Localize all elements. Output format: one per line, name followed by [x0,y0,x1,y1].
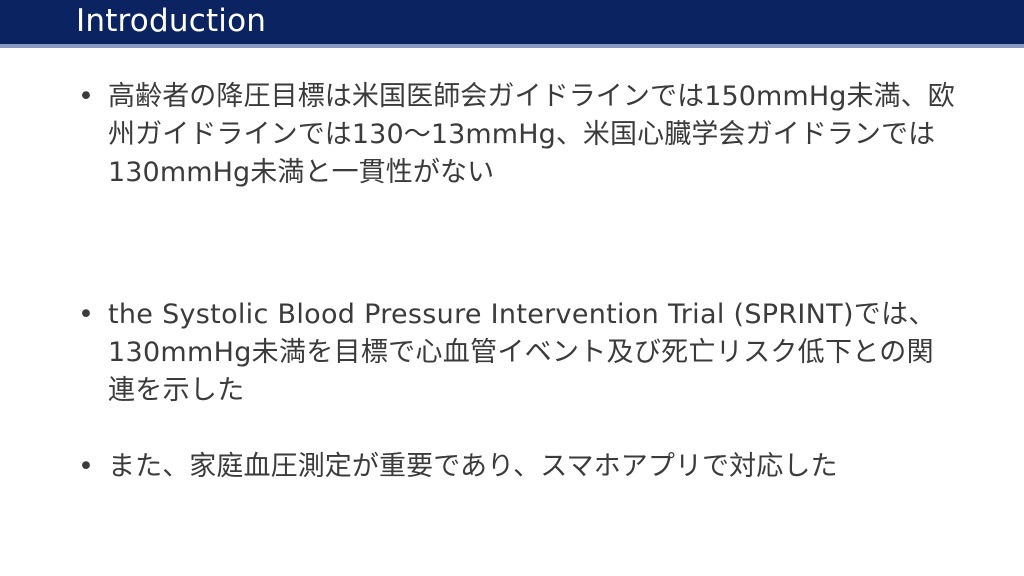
bullet-item-3: • また、家庭血圧測定が重要であり、スマホアプリで対応した [78,448,958,486]
bullet-item-1: • 高齢者の降圧目標は米国医師会ガイドラインでは150mmHg未満、欧州ガイドラ… [78,78,958,192]
bullet-item-2: • the Systolic Blood Pressure Interventi… [78,296,958,410]
slide: Introduction • 高齢者の降圧目標は米国医師会ガイドラインでは150… [0,0,1024,576]
slide-body: • 高齢者の降圧目標は米国医師会ガイドラインでは150mmHg未満、欧州ガイドラ… [0,48,1024,576]
bullet-point-icon: • [78,78,108,116]
bullet-text-2: the Systolic Blood Pressure Intervention… [108,296,958,410]
bullet-row: • また、家庭血圧測定が重要であり、スマホアプリで対応した [78,448,958,486]
bullet-text-3: また、家庭血圧測定が重要であり、スマホアプリで対応した [108,448,958,486]
bullet-row: • 高齢者の降圧目標は米国医師会ガイドラインでは150mmHg未満、欧州ガイドラ… [78,78,958,192]
page-title: Introduction [76,0,266,43]
bullet-text-1: 高齢者の降圧目標は米国医師会ガイドラインでは150mmHg未満、欧州ガイドライン… [108,78,958,192]
bullet-row: • the Systolic Blood Pressure Interventi… [78,296,958,410]
bullet-point-icon: • [78,448,108,486]
slide-title-bar: Introduction [0,0,1024,44]
bullet-point-icon: • [78,296,108,334]
